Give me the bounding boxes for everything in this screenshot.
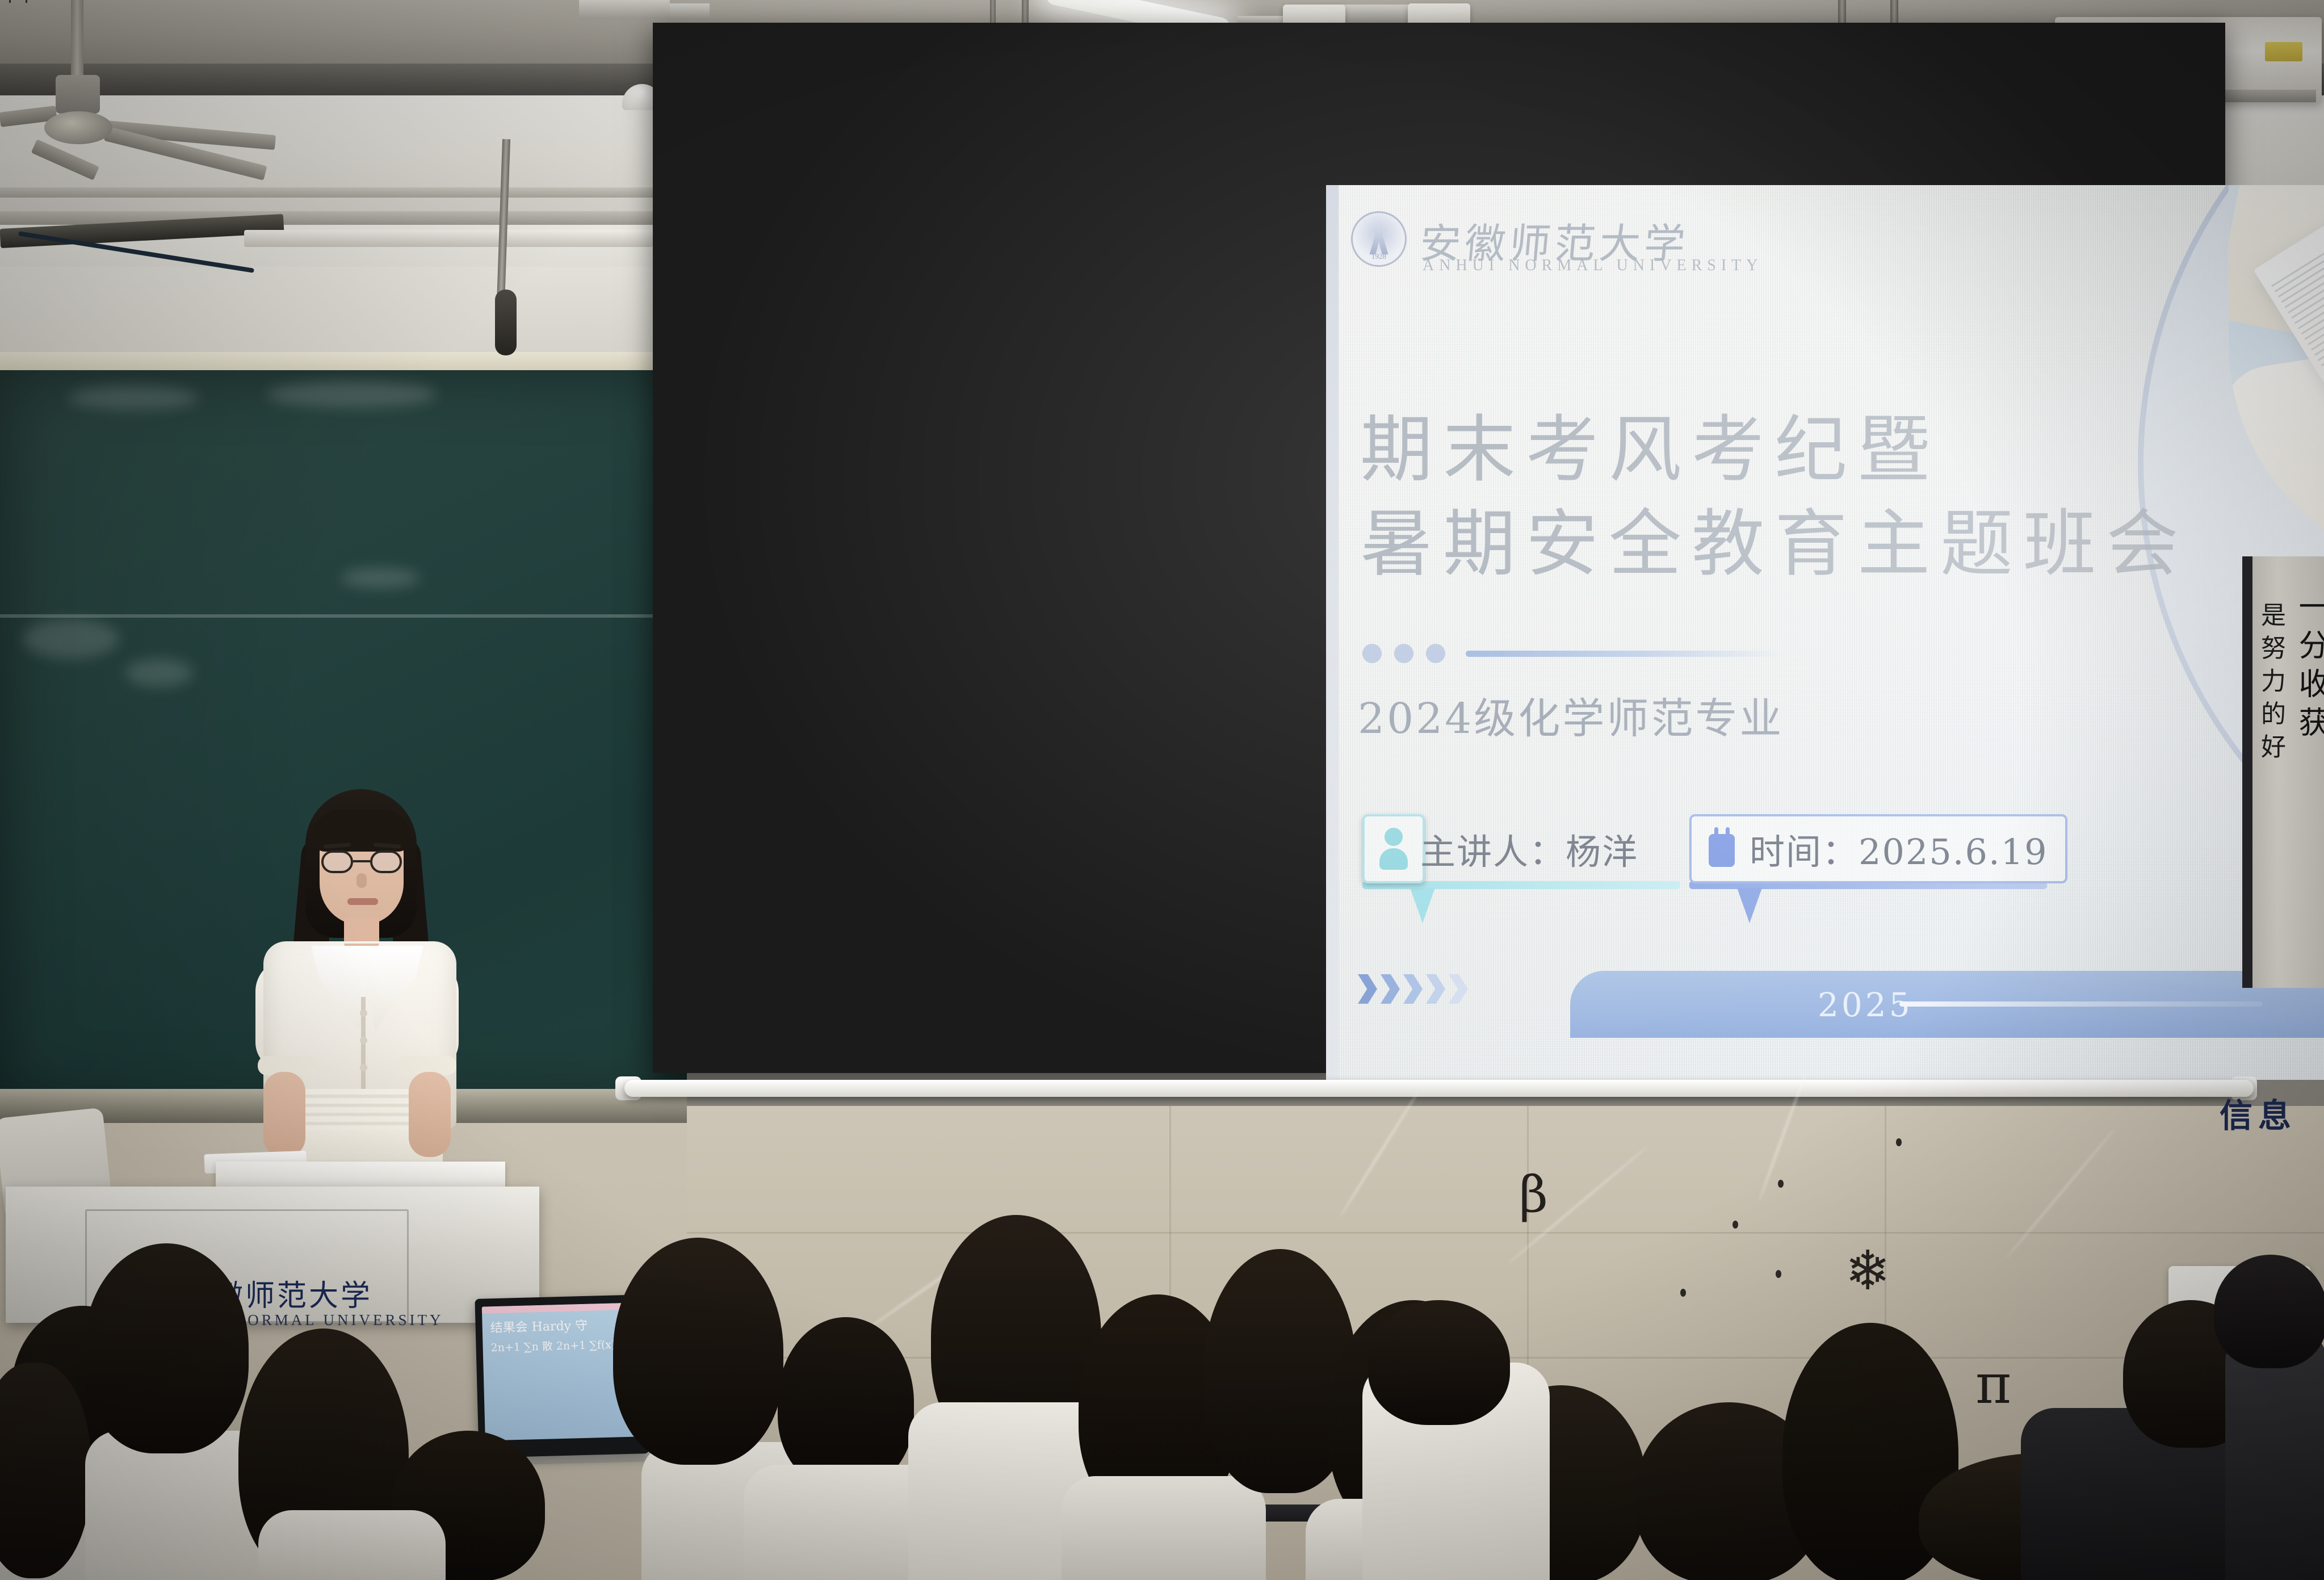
ceiling-bracket (579, 0, 670, 19)
wall-signage-text: 信息 (2220, 1089, 2297, 1137)
wall-mark (1680, 1289, 1686, 1297)
wall-mark (1896, 1138, 1902, 1146)
chevron-icon (1449, 974, 1468, 1004)
chalk-smudge (125, 659, 193, 687)
audience-head (778, 1317, 914, 1487)
university-logo-year: 1928 (1366, 252, 1392, 261)
chevron-icon (1381, 974, 1400, 1004)
speaker-callout-tail (1410, 888, 1435, 923)
chalk-smudge (341, 568, 420, 588)
audience-head (613, 1238, 783, 1465)
slide-title-line1: 期末考风考纪暨 (1360, 391, 1940, 496)
time-callout: 时间：2025.6.19 (1689, 814, 2067, 883)
chevron-icon (1358, 974, 1377, 1004)
audience-body (1062, 1476, 1266, 1580)
wall-mark (1732, 1221, 1738, 1229)
banner-text-line2: 是努力的好 (2252, 602, 2289, 766)
time-callout-tail (1737, 888, 1762, 923)
blouse-button (360, 1037, 367, 1044)
presenter-nose (356, 873, 367, 888)
chalk-smudge (267, 382, 437, 408)
slide-title-line2: 暑期安全教育主题班会 (1360, 485, 2189, 590)
wall-mark (1778, 1180, 1784, 1188)
ceiling-fan-rod (71, 0, 83, 79)
audience-head (2214, 1255, 2324, 1368)
laptop-screen-topbar (482, 1302, 639, 1313)
slide-dot-divider (1362, 644, 1784, 663)
blackboard-divider (0, 614, 687, 618)
blouse-button (360, 1009, 367, 1017)
presenter-forearm-right (409, 1072, 451, 1157)
presenter-mouth (347, 898, 378, 905)
divider-dot (1426, 644, 1445, 663)
person-icon (1377, 828, 1410, 870)
ceiling-bracket (670, 3, 710, 19)
speaker-callout-text: 主讲人：杨洋 (1420, 823, 1638, 874)
divider-line (1466, 651, 1784, 657)
divider-dot (1362, 644, 1382, 663)
presenter-forearm-left (263, 1072, 305, 1157)
chalk-smudge (68, 386, 199, 410)
banner-text-line1: 一分收获 (2289, 590, 2324, 745)
ceiling-fan-hub (44, 111, 112, 144)
slide-footer-line (1899, 1001, 2263, 1007)
slide-left-strip (1326, 185, 1339, 1080)
projection-screen-frame: 1928 安徽师范大学 ANHUI NORMAL UNIVERSITY 期末考风… (653, 23, 2225, 1073)
wall-mark (1776, 1270, 1781, 1278)
ceiling-pipe-light (244, 230, 653, 247)
laptop-note-line1: 结果会 Hardy 守 (490, 1315, 588, 1336)
chevron-icon (1426, 974, 1445, 1004)
chevron-icon (1403, 974, 1423, 1004)
audience-head (1368, 1300, 1510, 1425)
microphone-head (495, 290, 517, 355)
open-book-photo (2229, 185, 2324, 571)
slide-subtitle: 2024级化学师范专业 (1358, 685, 1784, 745)
chevron-arrows-icon (1358, 974, 1468, 1004)
slide-footer-year: 2025 (1818, 986, 1913, 1024)
time-callout-text: 时间：2025.6.19 (1750, 823, 2048, 874)
beta-symbol-sticker: β (1519, 1170, 1548, 1219)
warning-label (2265, 42, 2302, 61)
blouse-button (360, 1064, 367, 1071)
audience-head (84, 1243, 249, 1453)
slide-university-name-en: ANHUI NORMAL UNIVERSITY (1423, 257, 1763, 275)
wall-tile-seam (687, 1232, 2324, 1234)
audience-body (258, 1510, 446, 1580)
presentation-slide: 1928 安徽师范大学 ANHUI NORMAL UNIVERSITY 期末考风… (1326, 185, 2324, 1080)
calendar-icon (1704, 827, 1739, 870)
book-page (2229, 328, 2324, 571)
ceiling-fan-motor (56, 75, 100, 114)
snowflake-sticker: ❄ (1845, 1243, 1890, 1298)
speaker-callout: 主讲人：杨洋 (1362, 814, 1425, 883)
divider-dot (1394, 644, 1413, 663)
chalk-smudge (23, 619, 119, 659)
presenter (238, 789, 477, 1198)
classroom-scene: ΦΞ 升降器 (0, 0, 2324, 1580)
screen-roller-bar[interactable] (624, 1080, 2254, 1097)
glasses-icon (321, 850, 402, 873)
pi-symbol-sticker: π (1975, 1357, 2011, 1411)
